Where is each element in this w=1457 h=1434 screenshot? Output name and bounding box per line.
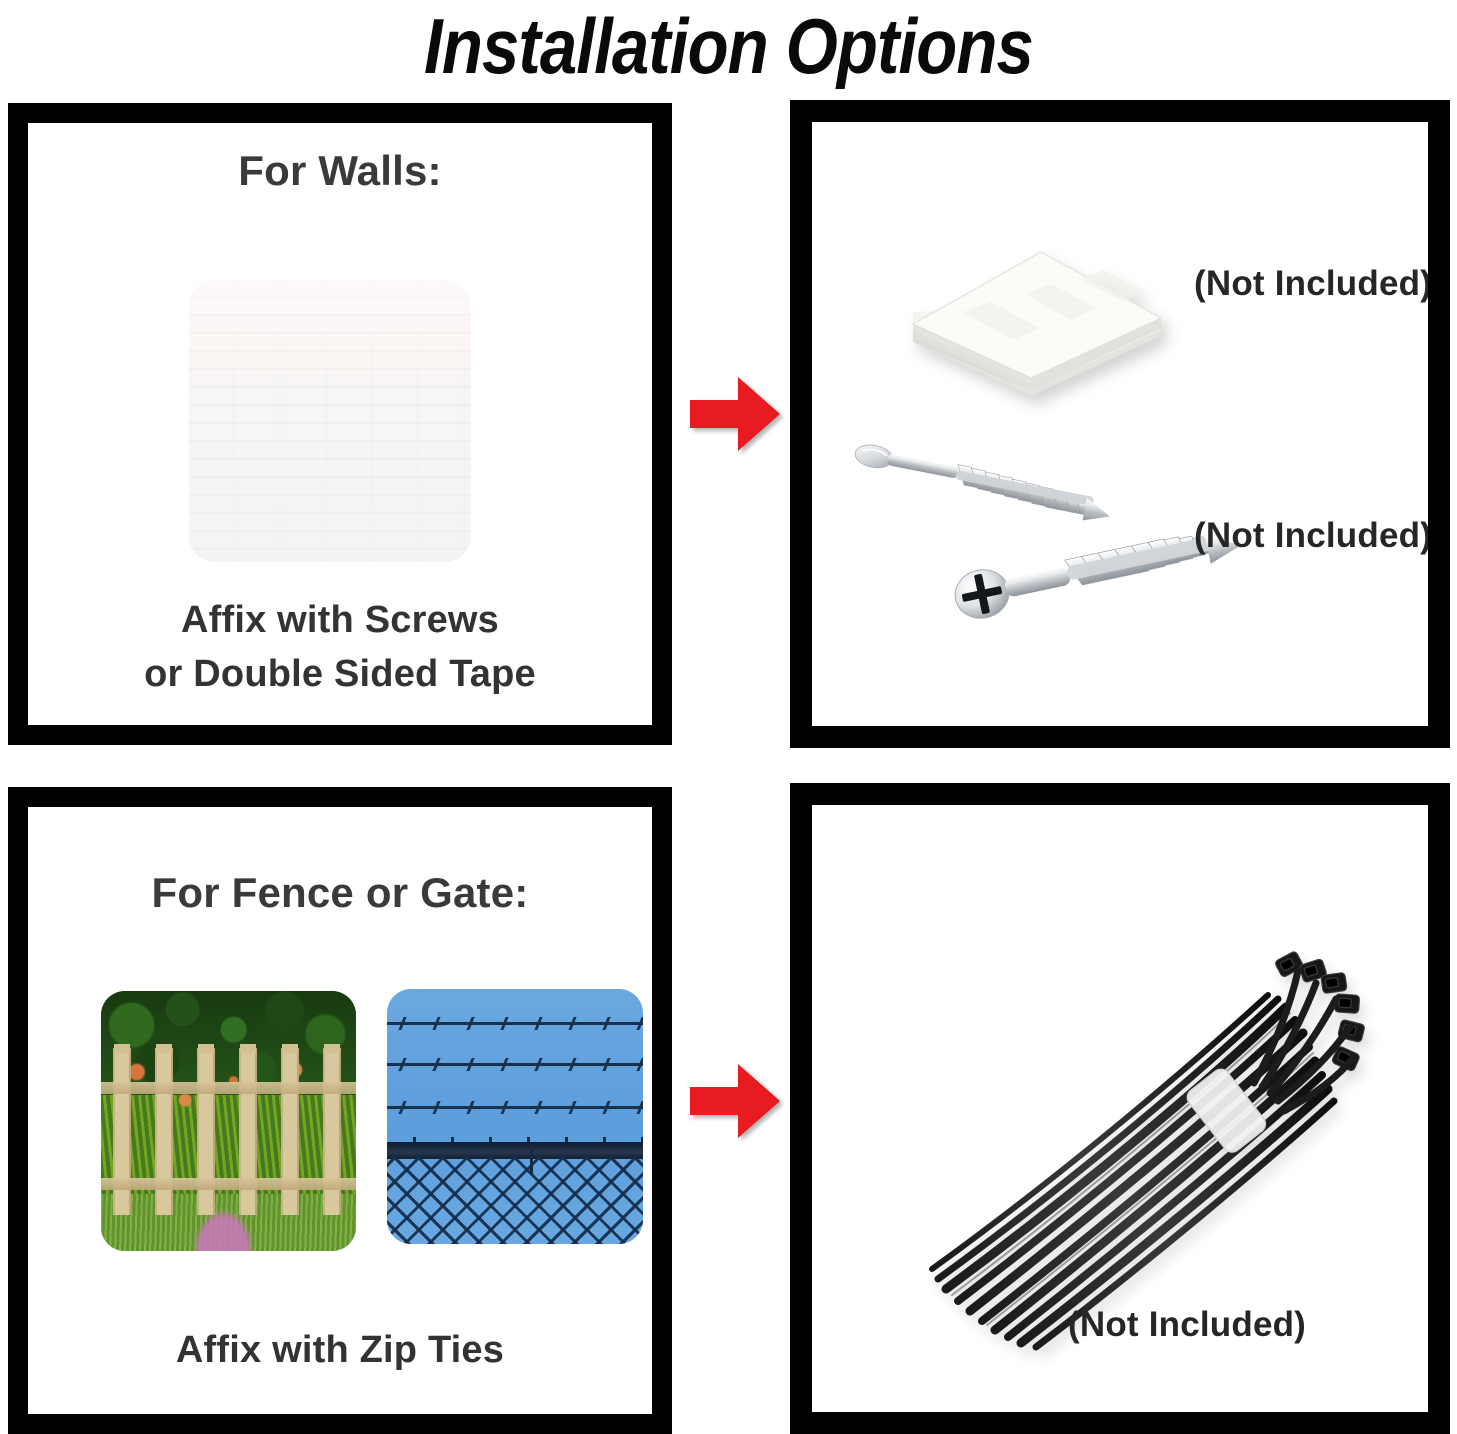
- for-fence-heading: For Fence or Gate:: [28, 869, 652, 917]
- fence-rail-lower: [101, 1178, 356, 1190]
- panel-for-walls-content: For Walls: Affix with Screws or Double S…: [28, 123, 652, 725]
- chain-link-barbed-wire-fence-photo: [387, 989, 643, 1244]
- garden-path: [193, 1209, 254, 1251]
- panel-wall-hardware-content: (Not Included): [812, 122, 1428, 726]
- panel-zip-ties: (Not Included): [790, 783, 1450, 1434]
- arrow-right-icon: [690, 1062, 780, 1140]
- panel-wall-hardware: (Not Included): [790, 100, 1450, 748]
- arrow-right-icon: [690, 375, 780, 453]
- chain-link-mesh: [387, 1157, 643, 1244]
- wooden-picket-fence-photo: [101, 991, 356, 1251]
- for-fence-caption: Affix with Zip Ties: [28, 1325, 652, 1376]
- panel-zip-ties-content: (Not Included): [812, 805, 1428, 1412]
- zip-ties-not-included-label: (Not Included): [1068, 1305, 1306, 1345]
- panel-for-fence-or-gate-content: For Fence or Gate: Affix with Zip Ties: [28, 807, 652, 1414]
- screws-not-included-label: (Not Included): [1194, 516, 1428, 556]
- wood-screw-icon-upper: [854, 440, 1164, 524]
- tape-not-included-label: (Not Included): [1194, 264, 1428, 304]
- barbed-wire-strand-2: [387, 1063, 643, 1066]
- barbed-wire-strand-3: [387, 1106, 643, 1109]
- double-sided-tape-stack: [905, 244, 1169, 406]
- fence-rail-upper: [101, 1082, 356, 1094]
- panel-for-fence-or-gate: For Fence or Gate: Affix with Zip Ties: [8, 787, 672, 1434]
- black-zip-tie-bundle: [854, 887, 1374, 1357]
- page-title: Installation Options: [102, 0, 1355, 92]
- barbed-wire-strand-1: [387, 1022, 643, 1025]
- for-walls-caption-line-1: Affix with Screws: [28, 595, 652, 646]
- fence-picket-tops: [101, 1044, 356, 1053]
- for-walls-caption-line-2: or Double Sided Tape: [28, 649, 652, 700]
- for-walls-heading: For Walls:: [28, 147, 652, 195]
- white-paint-wash: [189, 280, 471, 562]
- panel-for-walls: For Walls: Affix with Screws or Double S…: [8, 103, 672, 745]
- white-brick-wall-photo: [189, 280, 471, 562]
- fence-top-rail: [387, 1142, 643, 1159]
